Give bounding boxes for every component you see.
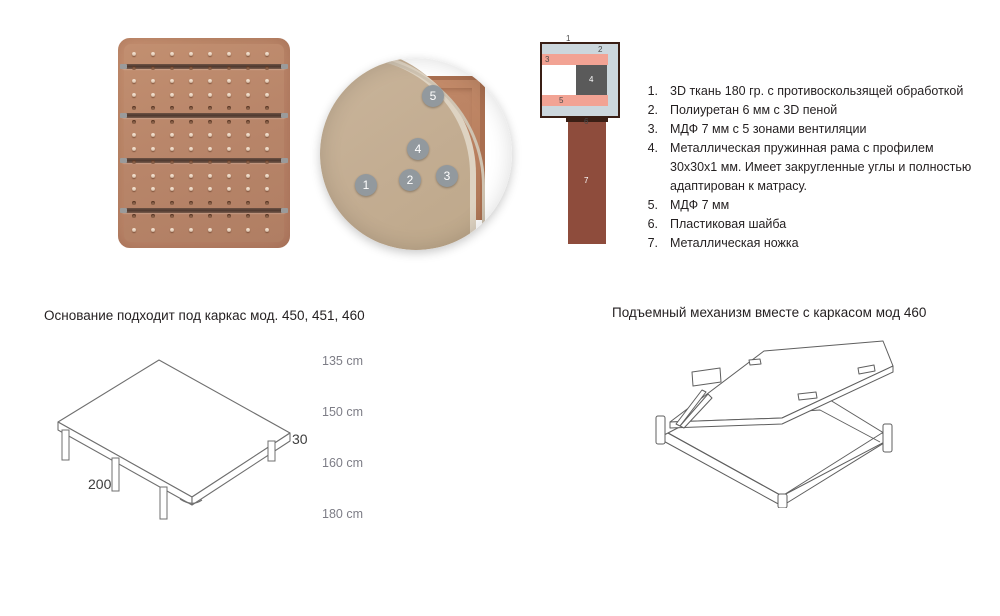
ventilation-hole [208, 66, 212, 70]
ventilation-hole [246, 52, 250, 56]
ventilation-hole [132, 52, 136, 56]
ventilation-hole [265, 201, 269, 205]
ventilation-hole [265, 214, 269, 218]
ventilation-holes [118, 38, 290, 248]
ventilation-hole [189, 147, 193, 151]
bed-base-svg [40, 345, 330, 525]
cs-label-1: 1 [566, 34, 570, 43]
ventilation-hole [227, 214, 231, 218]
ventilation-hole [170, 187, 174, 191]
ventilation-hole [132, 174, 136, 178]
product-detail-row: 1 2 3 4 5 1 2 3 4 5 6 7 1.3D ткань 180 г… [0, 0, 1000, 285]
spec-item: 6.Пластиковая шайба [636, 215, 976, 234]
layer-cross-section-diagram: 1 2 3 4 5 6 7 [540, 36, 640, 251]
ventilation-hole [208, 214, 212, 218]
callout-bubble-5: 5 [422, 85, 444, 107]
ventilation-hole [170, 52, 174, 56]
spec-item-text: МДФ 7 мм [670, 198, 729, 212]
specification-list: 1.3D ткань 180 гр. с противоскользящей о… [636, 82, 976, 253]
ventilation-hole [208, 160, 212, 164]
ventilation-hole [132, 106, 136, 110]
ventilation-hole [246, 93, 250, 97]
ventilation-hole [132, 93, 136, 97]
ventilation-hole [208, 174, 212, 178]
ventilation-hole [132, 79, 136, 83]
ventilation-hole [151, 214, 155, 218]
ventilation-hole [151, 147, 155, 151]
ventilation-hole [151, 228, 155, 232]
ventilation-hole [151, 174, 155, 178]
ventilation-hole [208, 133, 212, 137]
ventilation-hole [132, 120, 136, 124]
ventilation-hole [132, 228, 136, 232]
spec-item-text: 3D ткань 180 гр. с противоскользящей обр… [670, 84, 963, 98]
ventilation-hole [265, 93, 269, 97]
spec-item: 3.МДФ 7 мм с 5 зонами вентиляции [636, 120, 976, 139]
ventilation-hole [151, 79, 155, 83]
ventilation-hole [227, 147, 231, 151]
ventilation-hole [246, 133, 250, 137]
ventilation-hole [227, 160, 231, 164]
ventilation-hole [170, 214, 174, 218]
ventilation-hole [170, 201, 174, 205]
cs-label-3: 3 [545, 55, 549, 64]
ventilation-hole [170, 106, 174, 110]
ventilation-hole [227, 79, 231, 83]
ventilation-hole [189, 66, 193, 70]
ventilation-hole [189, 133, 193, 137]
ventilation-hole [227, 174, 231, 178]
ventilation-hole [246, 160, 250, 164]
ventilation-hole [189, 214, 193, 218]
spec-item-number: 2. [636, 101, 658, 120]
spec-item-number: 7. [636, 234, 658, 253]
spec-item-text: МДФ 7 мм с 5 зонами вентиляции [670, 122, 867, 136]
ventilation-hole [246, 147, 250, 151]
ventilation-hole [246, 79, 250, 83]
ventilation-hole [151, 66, 155, 70]
cs-label-7: 7 [584, 176, 588, 185]
ventilation-hole [265, 106, 269, 110]
ventilation-hole [189, 106, 193, 110]
ventilation-hole [151, 120, 155, 124]
ventilation-hole [170, 120, 174, 124]
specification-items: 1.3D ткань 180 гр. с противоскользящей о… [636, 82, 976, 253]
bed-width-dimension: 200 [88, 476, 111, 492]
ventilation-hole [265, 133, 269, 137]
ventilation-hole [132, 66, 136, 70]
cs-label-4: 4 [589, 75, 593, 84]
spec-item-number: 6. [636, 215, 658, 234]
ventilation-hole [170, 133, 174, 137]
ventilation-hole [208, 187, 212, 191]
ventilation-hole [170, 93, 174, 97]
ventilation-hole [208, 93, 212, 97]
callout-bubble-3: 3 [436, 165, 458, 187]
slatted-base-photo [118, 38, 290, 248]
size-options-list: 135 cm 150 cm 160 cm 180 cm [322, 348, 432, 538]
ventilation-hole [151, 187, 155, 191]
ventilation-hole [189, 120, 193, 124]
ventilation-hole [151, 93, 155, 97]
ventilation-hole [265, 228, 269, 232]
ventilation-hole [246, 201, 250, 205]
ventilation-hole [227, 106, 231, 110]
ventilation-hole [265, 147, 269, 151]
ventilation-hole [246, 106, 250, 110]
ventilation-hole [189, 174, 193, 178]
cs-layer-mdf-top-front [542, 54, 608, 65]
ventilation-hole [151, 201, 155, 205]
lift-mechanism-drawing [630, 338, 970, 508]
spec-item-text: Полиуретан 6 мм с 3D пеной [670, 103, 837, 117]
ventilation-hole [246, 228, 250, 232]
cs-layer-mdf-bottom [542, 95, 608, 106]
size-option-160[interactable]: 160 cm [322, 456, 363, 470]
ventilation-hole [208, 52, 212, 56]
spec-item: 1.3D ткань 180 гр. с противоскользящей о… [636, 82, 976, 101]
ventilation-hole [151, 160, 155, 164]
ventilation-hole [265, 52, 269, 56]
ventilation-hole [189, 201, 193, 205]
ventilation-hole [246, 214, 250, 218]
ventilation-hole [132, 187, 136, 191]
ventilation-hole [227, 120, 231, 124]
ventilation-hole [132, 214, 136, 218]
ventilation-hole [132, 160, 136, 164]
cs-label-2: 2 [598, 45, 602, 54]
lift-mechanism-svg [630, 338, 970, 508]
callout-bubble-2: 2 [399, 169, 421, 191]
ventilation-hole [227, 133, 231, 137]
ventilation-hole [227, 228, 231, 232]
spec-item-number: 1. [636, 82, 658, 101]
ventilation-hole [170, 160, 174, 164]
ventilation-hole [189, 93, 193, 97]
ventilation-hole [208, 79, 212, 83]
ventilation-hole [189, 187, 193, 191]
ventilation-hole [189, 79, 193, 83]
ventilation-hole [170, 147, 174, 151]
spec-item-text: Пластиковая шайба [670, 217, 786, 231]
ventilation-hole [227, 187, 231, 191]
spec-item: 7.Металлическая ножка [636, 234, 976, 253]
spec-item-text: Металлическая пружинная рама с профилем … [670, 141, 971, 193]
spec-item-number: 5. [636, 196, 658, 215]
ventilation-hole [227, 66, 231, 70]
ventilation-hole [227, 93, 231, 97]
size-option-135[interactable]: 135 cm [322, 354, 363, 368]
ventilation-hole [208, 120, 212, 124]
spec-item-number: 4. [636, 139, 658, 158]
cs-label-6: 6 [584, 117, 588, 126]
spec-item-text: Металлическая ножка [670, 236, 799, 250]
ventilation-hole [208, 147, 212, 151]
callout-bubble-4: 4 [407, 138, 429, 160]
ventilation-hole [265, 187, 269, 191]
ventilation-hole [151, 106, 155, 110]
ventilation-hole [265, 160, 269, 164]
size-option-180[interactable]: 180 cm [322, 507, 363, 521]
ventilation-hole [170, 228, 174, 232]
ventilation-hole [265, 66, 269, 70]
spec-item: 5.МДФ 7 мм [636, 196, 976, 215]
ventilation-hole [189, 228, 193, 232]
ventilation-hole [132, 133, 136, 137]
ventilation-hole [189, 160, 193, 164]
ventilation-hole [170, 66, 174, 70]
ventilation-hole [132, 147, 136, 151]
ventilation-hole [265, 79, 269, 83]
ventilation-hole [227, 52, 231, 56]
caption-lift-mechanism: Подъемный механизм вместе с каркасом мод… [612, 305, 926, 320]
bed-base-isometric-drawing: 30 200 [40, 345, 330, 525]
ventilation-hole [170, 79, 174, 83]
ventilation-hole [246, 174, 250, 178]
ventilation-hole [170, 174, 174, 178]
spec-item-number: 3. [636, 120, 658, 139]
cs-label-5: 5 [559, 96, 563, 105]
ventilation-hole [265, 120, 269, 124]
ventilation-hole [227, 201, 231, 205]
ventilation-hole [151, 133, 155, 137]
ventilation-hole [208, 201, 212, 205]
size-option-150[interactable]: 150 cm [322, 405, 363, 419]
ventilation-hole [189, 52, 193, 56]
bed-height-dimension: 30 [292, 431, 308, 447]
callout-bubble-1: 1 [355, 174, 377, 196]
ventilation-hole [208, 228, 212, 232]
ventilation-hole [132, 201, 136, 205]
ventilation-hole [151, 52, 155, 56]
ventilation-hole [265, 174, 269, 178]
ventilation-hole [246, 66, 250, 70]
caption-base-compatibility: Основание подходит под каркас мод. 450, … [44, 308, 365, 323]
ventilation-hole [246, 187, 250, 191]
ventilation-hole [246, 120, 250, 124]
spec-item: 2.Полиуретан 6 мм с 3D пеной [636, 101, 976, 120]
ventilation-hole [208, 106, 212, 110]
spec-item: 4.Металлическая пружинная рама с профиле… [636, 139, 976, 196]
